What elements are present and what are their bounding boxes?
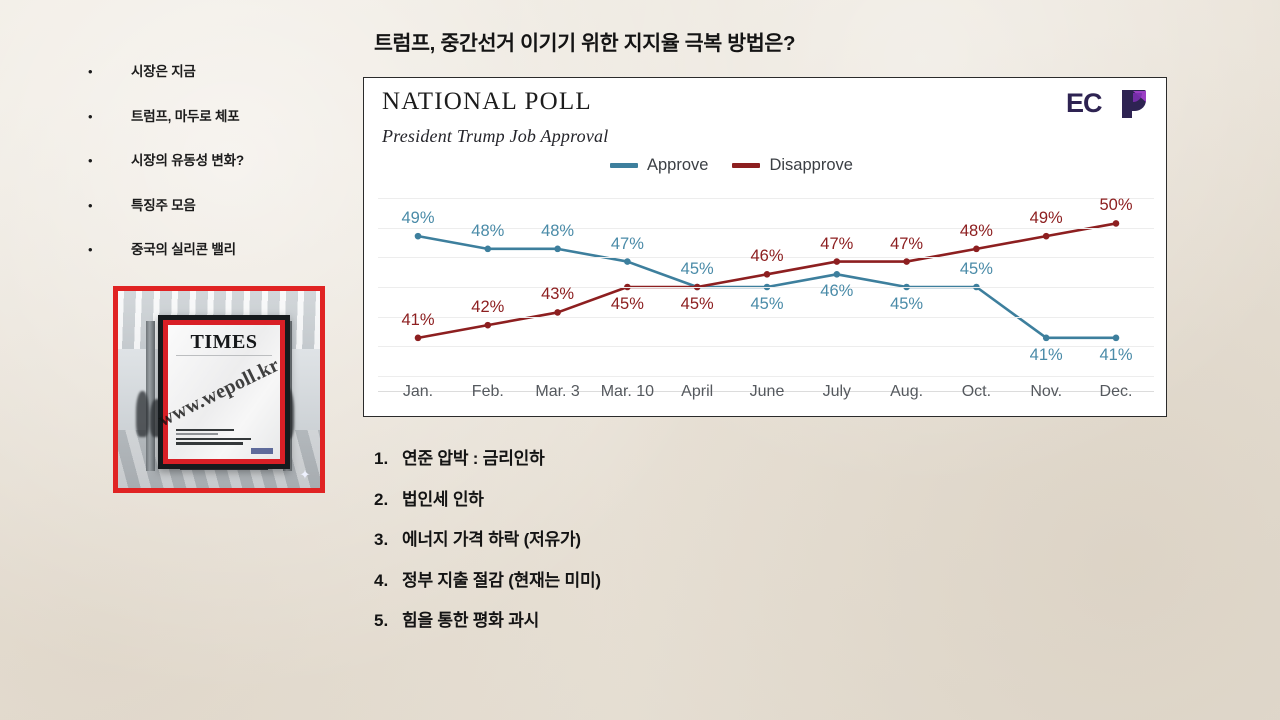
data-label: 50% — [1099, 196, 1132, 215]
data-point — [1113, 220, 1120, 227]
bullet-dot-icon: • — [88, 243, 102, 256]
data-label: 48% — [541, 222, 574, 241]
point-item-0: 1. 연준 압박 : 금리인하 — [374, 444, 601, 470]
data-label: 43% — [541, 285, 574, 304]
data-point — [764, 271, 771, 278]
chart-subtitle: President Trump Job Approval — [382, 126, 608, 147]
x-tick-label: April — [681, 383, 713, 401]
data-label: 46% — [750, 247, 783, 266]
sparkle-icon: ✦ — [299, 469, 311, 481]
data-point — [554, 246, 561, 253]
point-label: 힘을 통한 평화 과시 — [402, 606, 539, 631]
photo-scene: TIMES www.wepoll.kr ✦ — [118, 291, 320, 488]
sidebar-item-label: 시장의 유동성 변화? — [102, 149, 244, 169]
point-index: 3. — [374, 530, 402, 550]
grid-line — [378, 376, 1154, 377]
chart-title: NATIONAL POLL — [382, 88, 592, 116]
x-tick-label: Feb. — [472, 383, 504, 401]
sidebar-item-4[interactable]: • 중국의 실리콘 밸리 — [88, 238, 348, 260]
bullet-dot-icon: • — [88, 110, 102, 123]
chart-plot-area: 49%48%48%47%45%45%46%45%45%41%41%41%42%4… — [378, 198, 1154, 376]
point-index: 5. — [374, 611, 402, 631]
data-label: 45% — [681, 260, 714, 279]
point-index: 4. — [374, 571, 402, 591]
data-label: 49% — [1030, 209, 1063, 228]
chart-legend: Approve Disapprove — [610, 156, 853, 175]
data-label: 45% — [960, 260, 993, 279]
data-point — [415, 233, 422, 240]
sidebar-bullet-list: • 시장은 지금 • 트럼프, 마두로 체포 • 시장의 유동성 변화? • 특… — [88, 60, 348, 283]
times-billboard-photo: TIMES www.wepoll.kr ✦ — [113, 286, 325, 493]
data-point — [554, 309, 561, 316]
slide-canvas: • 시장은 지금 • 트럼프, 마두로 체포 • 시장의 유동성 변화? • 특… — [0, 0, 1280, 720]
point-item-2: 3. 에너지 가격 하락 (저유가) — [374, 525, 601, 551]
cover-text-line — [176, 429, 234, 431]
chart-x-axis: Jan.Feb.Mar. 3Mar. 10AprilJuneJulyAug.Oc… — [378, 383, 1154, 409]
data-label: 47% — [890, 235, 923, 254]
data-label: 48% — [960, 222, 993, 241]
data-point — [1043, 335, 1050, 342]
legend-swatch-disapprove — [732, 163, 760, 168]
data-label: 45% — [611, 295, 644, 314]
x-tick-label: Aug. — [890, 383, 923, 401]
sidebar-item-label: 특징주 모음 — [102, 194, 196, 214]
x-tick-label: June — [750, 383, 785, 401]
magazine-title: TIMES — [168, 331, 280, 354]
data-point — [485, 246, 492, 253]
data-label: 41% — [401, 311, 434, 330]
x-tick-label: Jan. — [403, 383, 433, 401]
cover-publisher-logo — [251, 448, 273, 454]
point-item-3: 4. 정부 지출 절감 (현재는 미미) — [374, 566, 601, 592]
sidebar-item-label: 중국의 실리콘 밸리 — [102, 238, 236, 258]
data-label: 41% — [1030, 346, 1063, 365]
point-item-1: 2. 법인세 인하 — [374, 485, 601, 511]
cover-text-block — [176, 429, 272, 447]
data-label: 45% — [890, 295, 923, 314]
grid-line — [378, 287, 1154, 288]
sidebar-item-label: 시장은 지금 — [102, 60, 196, 80]
data-point — [973, 246, 980, 253]
data-label: 45% — [681, 295, 714, 314]
page-title: 트럼프, 중간선거 이기기 위한 지지율 극복 방법은? — [374, 26, 795, 56]
legend-item-disapprove[interactable]: Disapprove — [732, 156, 852, 175]
x-tick-label: Mar. 3 — [535, 383, 579, 401]
sidebar-item-0[interactable]: • 시장은 지금 — [88, 60, 348, 82]
bullet-dot-icon: • — [88, 199, 102, 212]
point-index: 2. — [374, 490, 402, 510]
point-label: 정부 지출 절감 (현재는 미미) — [402, 566, 601, 591]
data-point — [1043, 233, 1050, 240]
data-label: 47% — [820, 235, 853, 254]
data-label: 45% — [750, 295, 783, 314]
point-index: 1. — [374, 449, 402, 469]
x-tick-label: July — [823, 383, 851, 401]
ecp-logo-icon: EC — [1066, 86, 1152, 120]
x-tick-label: Mar. 10 — [601, 383, 654, 401]
national-poll-chart-panel: NATIONAL POLL President Trump Job Approv… — [363, 77, 1167, 417]
divider — [176, 355, 272, 356]
cover-text-line — [176, 442, 243, 444]
legend-label-approve: Approve — [647, 156, 708, 175]
cover-text-line — [176, 433, 218, 435]
series-line-disapprove — [418, 223, 1116, 337]
bullet-dot-icon: • — [88, 65, 102, 78]
grid-line — [378, 198, 1154, 199]
sidebar-item-2[interactable]: • 시장의 유동성 변화? — [88, 149, 348, 171]
data-point — [834, 271, 841, 278]
data-point — [903, 258, 910, 265]
bullet-dot-icon: • — [88, 154, 102, 167]
data-label: 41% — [1099, 346, 1132, 365]
pillar-left — [146, 321, 155, 471]
sidebar-item-3[interactable]: • 특징주 모음 — [88, 194, 348, 216]
point-label: 법인세 인하 — [402, 485, 484, 510]
legend-swatch-approve — [610, 163, 638, 168]
data-point — [834, 258, 841, 265]
numbered-points-list: 1. 연준 압박 : 금리인하 2. 법인세 인하 3. 에너지 가격 하락 (… — [374, 444, 601, 647]
cover-text-line — [176, 438, 251, 440]
sidebar-item-label: 트럼프, 마두로 체포 — [102, 105, 239, 125]
x-tick-label: Nov. — [1030, 383, 1062, 401]
x-tick-label: Dec. — [1100, 383, 1133, 401]
svg-text:EC: EC — [1066, 88, 1102, 118]
data-point — [485, 322, 492, 329]
point-item-4: 5. 힘을 통한 평화 과시 — [374, 606, 601, 632]
data-point — [1113, 335, 1120, 342]
data-point — [624, 258, 631, 265]
x-tick-label: Oct. — [962, 383, 991, 401]
sidebar-item-1[interactable]: • 트럼프, 마두로 체포 — [88, 105, 348, 127]
legend-item-approve[interactable]: Approve — [610, 156, 708, 175]
data-label: 49% — [401, 209, 434, 228]
point-label: 에너지 가격 하락 (저유가) — [402, 525, 581, 550]
data-label: 48% — [471, 222, 504, 241]
data-label: 46% — [820, 282, 853, 301]
data-label: 47% — [611, 235, 644, 254]
data-point — [415, 335, 422, 342]
person-silhouette — [136, 391, 149, 437]
data-label: 42% — [471, 298, 504, 317]
legend-label-disapprove: Disapprove — [769, 156, 852, 175]
point-label: 연준 압박 : 금리인하 — [402, 444, 545, 469]
